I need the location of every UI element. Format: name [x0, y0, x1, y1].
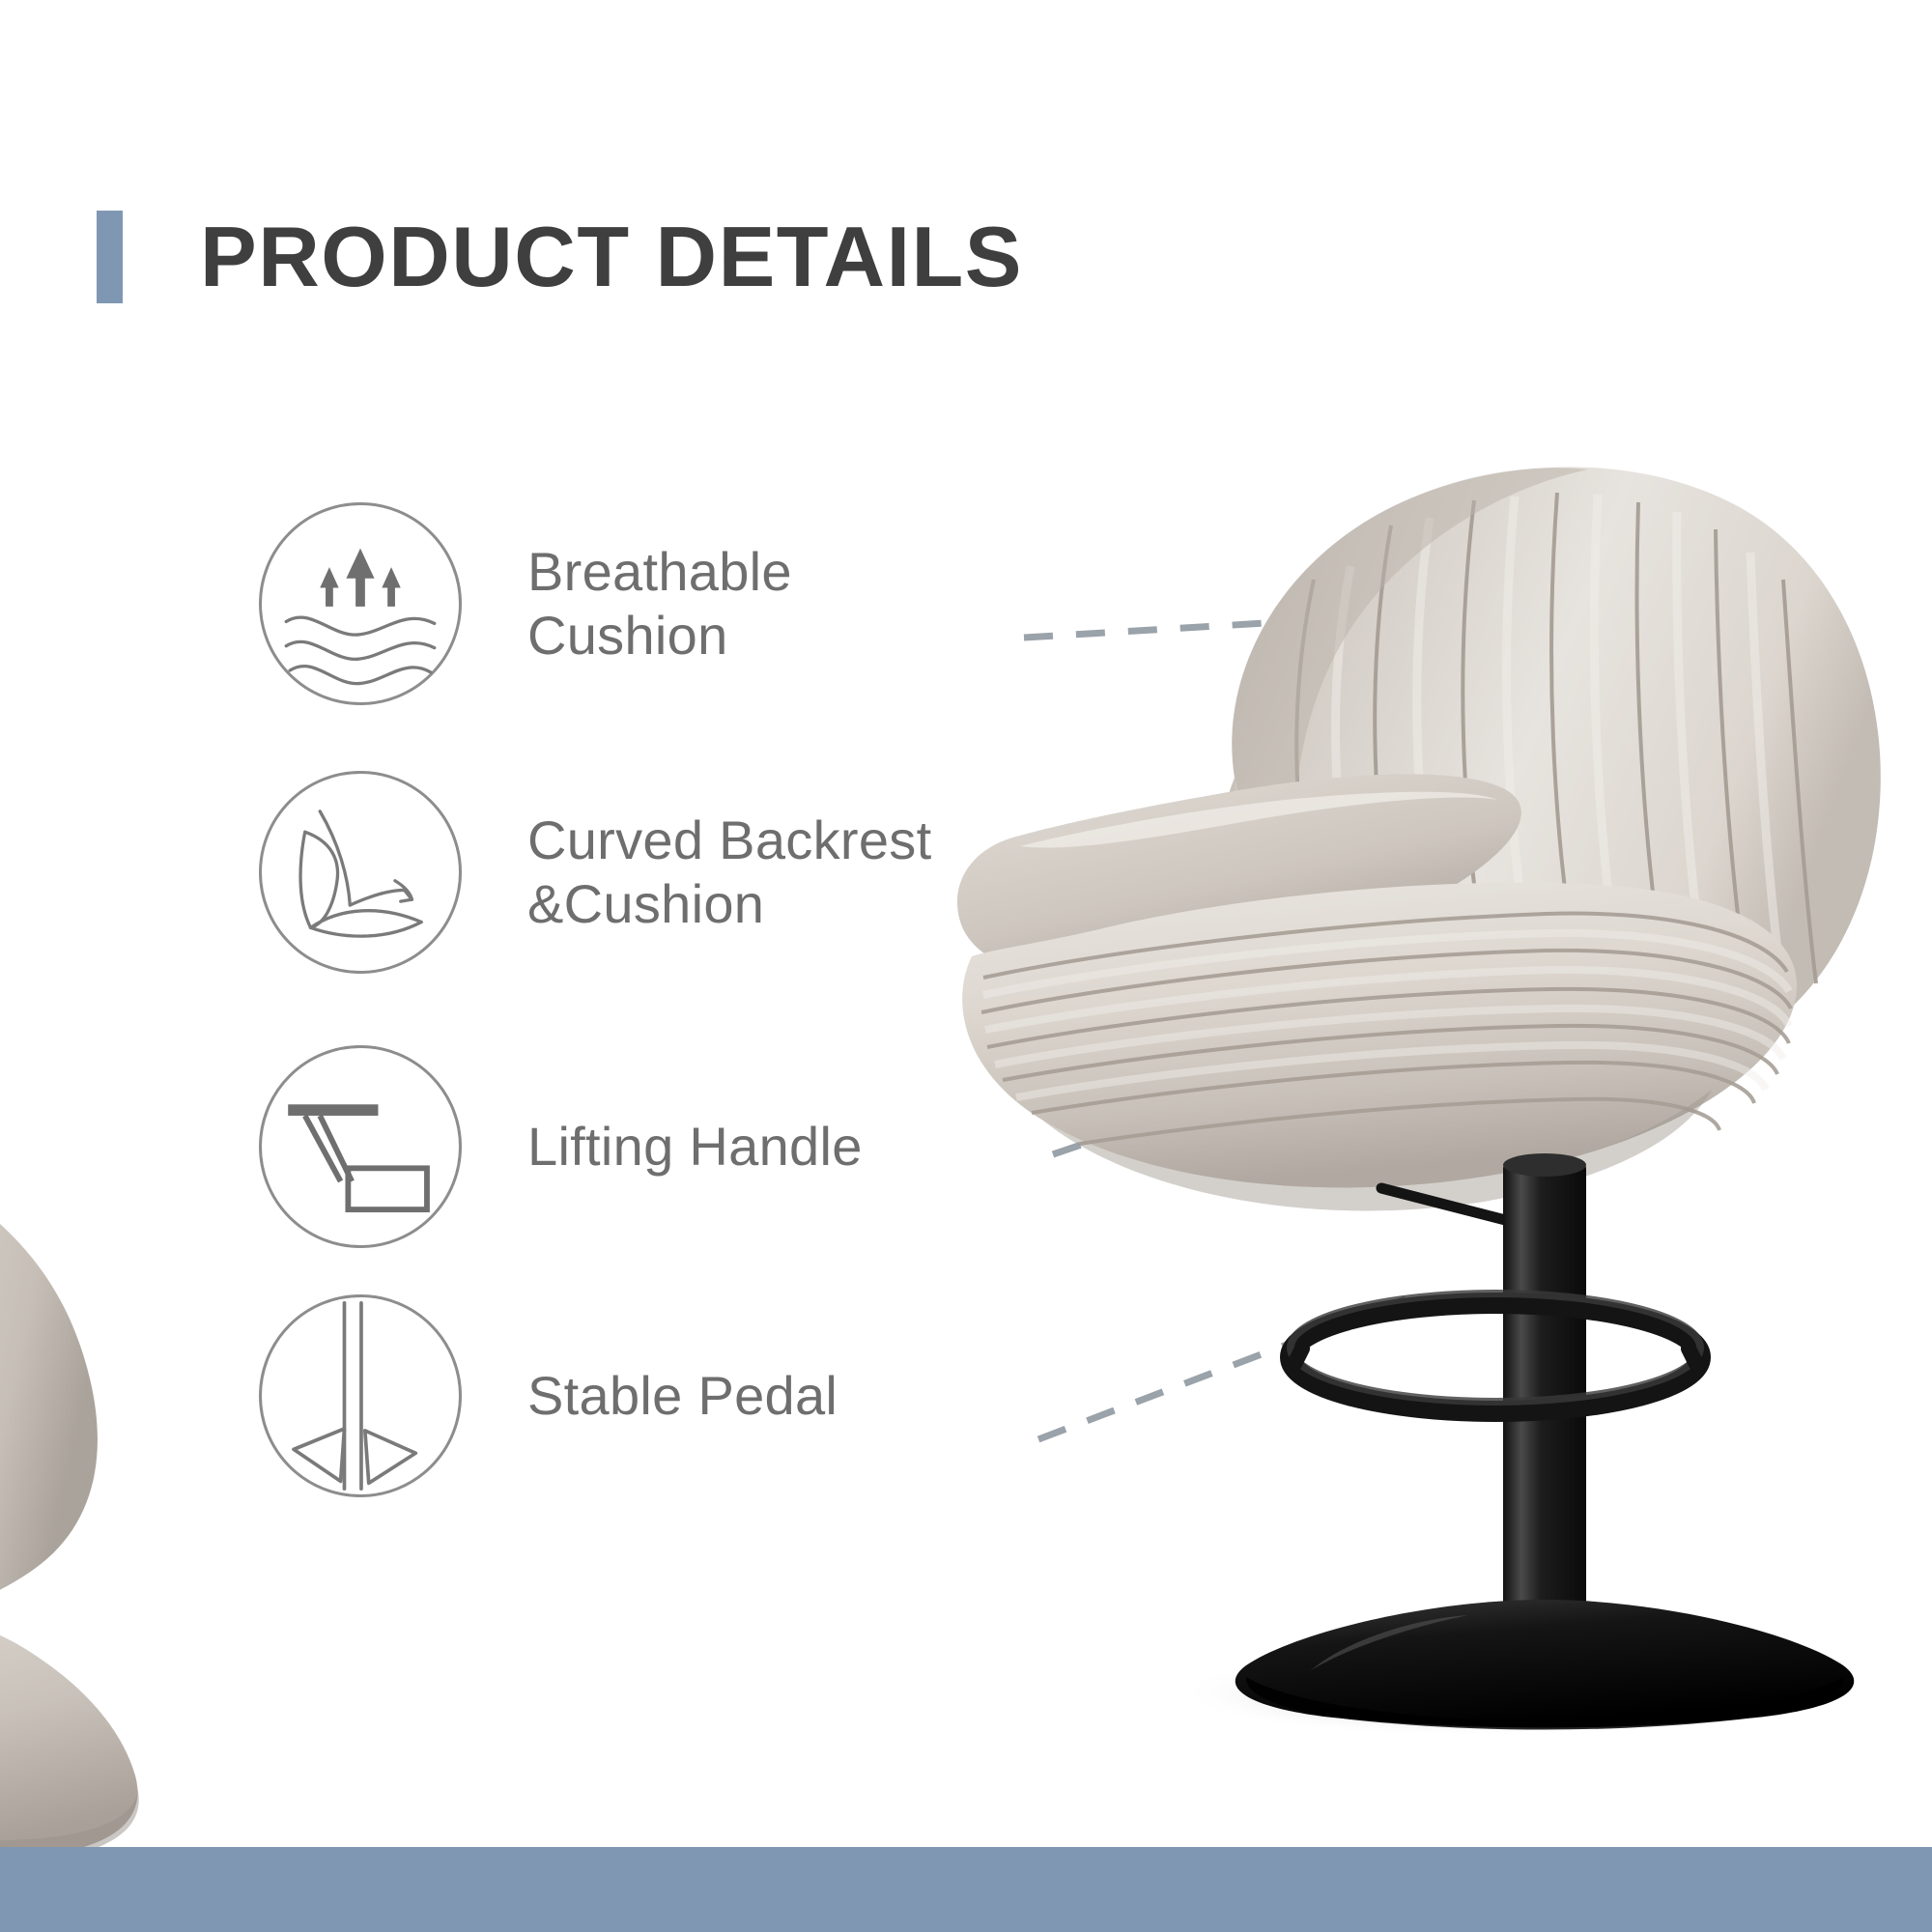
corner-chair-backrest: [0, 1150, 98, 1625]
feature-label-breathable-cushion: Breathable Cushion: [527, 540, 792, 668]
title-accent-bar: [97, 211, 123, 303]
curved-backrest-icon: [259, 771, 462, 974]
pedestal-base: [1236, 1600, 1855, 1730]
feature-label-curved-backrest: Curved Backrest &Cushion: [527, 809, 931, 936]
feature-item-curved-backrest[interactable]: Curved Backrest &Cushion: [259, 771, 931, 974]
breathable-cushion-icon: [259, 502, 462, 705]
feature-item-stable-pedal[interactable]: Stable Pedal: [259, 1294, 838, 1497]
product-image: [927, 290, 1932, 1855]
lifting-handle-icon: [259, 1045, 462, 1248]
product-details-infographic: PRODUCT DETAILS: [0, 0, 1932, 1932]
secondary-product-image: [0, 1150, 280, 1932]
footring-pedal: [1291, 1293, 1700, 1411]
page-title: PRODUCT DETAILS: [200, 211, 1023, 303]
stable-pedal-icon: [259, 1294, 462, 1497]
feature-label-lifting-handle: Lifting Handle: [527, 1115, 863, 1179]
feature-label-stable-pedal: Stable Pedal: [527, 1364, 838, 1428]
feature-item-breathable-cushion[interactable]: Breathable Cushion: [259, 502, 792, 705]
page-title-row: PRODUCT DETAILS: [97, 211, 1023, 303]
bottom-accent-band: [0, 1847, 1932, 1932]
feature-item-lifting-handle[interactable]: Lifting Handle: [259, 1045, 863, 1248]
column-top-cap: [1503, 1153, 1586, 1177]
